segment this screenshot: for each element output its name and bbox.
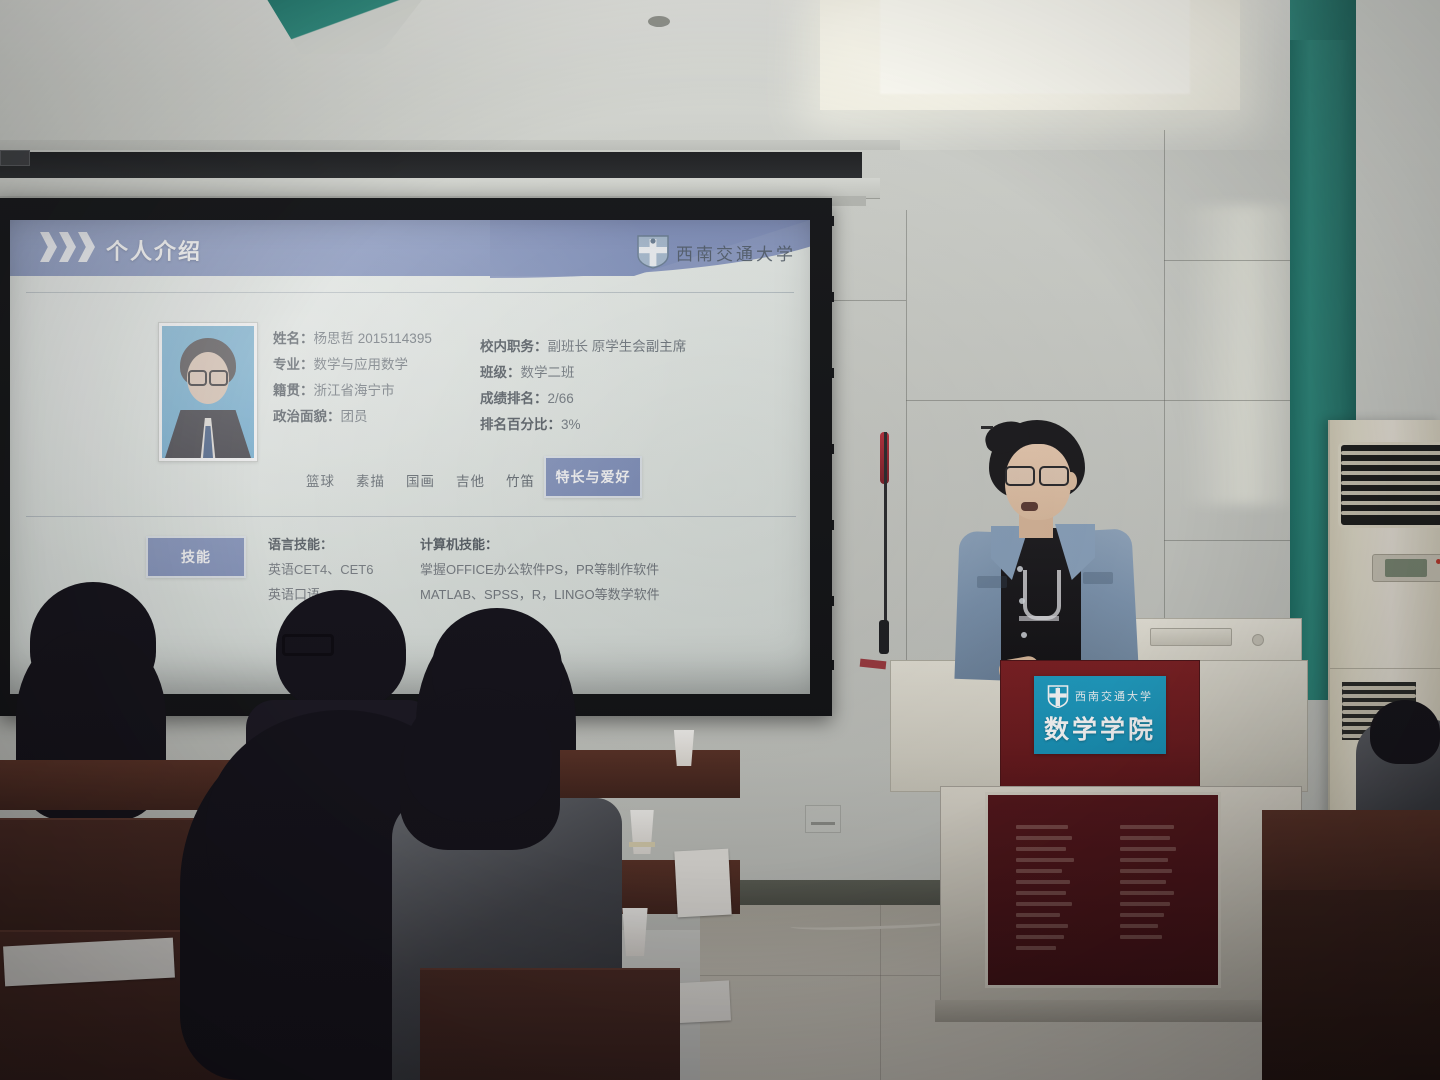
hobby-item: 国画 xyxy=(406,470,435,490)
triple-chevron-icon xyxy=(40,232,95,262)
wall-cable-end xyxy=(879,620,889,654)
wall-light-glow xyxy=(1180,205,1290,505)
classroom-presentation-photo: 个人介绍 西南交通大学 xyxy=(0,0,1440,1080)
podium-base xyxy=(935,1000,1307,1022)
hobby-item: 竹笛 xyxy=(506,470,535,490)
podium-sign-department: 数学学院 xyxy=(1044,710,1156,746)
glasses-icon xyxy=(282,634,334,656)
hobby-list: 篮球 素描 国画 吉他 竹笛 xyxy=(306,470,535,490)
info-row: 专业：数学与应用数学 xyxy=(273,352,432,378)
info-row: 校内职务：副班长 原学生会副主席 xyxy=(480,334,686,360)
presenter-tshirt-graphic-bar xyxy=(1019,616,1059,621)
hobby-item: 素描 xyxy=(356,470,385,490)
wall-cable xyxy=(884,432,887,632)
info-row: 籍贯：浙江省海宁市 xyxy=(273,378,432,404)
wall-outlet xyxy=(805,805,841,833)
hobby-item: 篮球 xyxy=(306,470,335,490)
ceiling-smoke-detector-icon xyxy=(648,16,670,27)
air-conditioner-vent-top xyxy=(1338,442,1440,528)
header-underline xyxy=(26,292,794,293)
wall-seam xyxy=(906,210,907,730)
screen-housing-shadow xyxy=(0,152,862,178)
id-photo xyxy=(158,322,258,462)
wall-seam xyxy=(906,400,1296,401)
info-row: 班级：数学二班 xyxy=(480,360,686,386)
presenter-pocket-left xyxy=(977,576,1007,588)
language-skills-heading: 语言技能： xyxy=(268,532,373,557)
podium-handle[interactable] xyxy=(1150,628,1232,646)
info-column-right: 校内职务：副班长 原学生会副主席 班级：数学二班 成绩排名：2/66 排名百分比… xyxy=(480,334,686,438)
air-conditioner-power-led-icon xyxy=(1436,559,1440,564)
paper-sheet xyxy=(674,849,731,918)
presenter xyxy=(955,420,1155,680)
glasses-bridge xyxy=(981,426,993,429)
hobbies-badge: 特长与爱好 xyxy=(544,456,642,498)
podium-right-wing xyxy=(1190,660,1308,792)
floor-tile-seam xyxy=(880,905,881,1080)
audience-head-right xyxy=(1370,700,1440,764)
presenter-pocket-right xyxy=(1083,572,1113,584)
paper-cup xyxy=(628,810,656,854)
screen-edge-tabs xyxy=(816,198,834,716)
glasses-icon xyxy=(1005,466,1069,482)
air-conditioner-screen xyxy=(1385,559,1427,577)
info-column-left: 姓名：杨思哲 2015114395 专业：数学与应用数学 籍贯：浙江省海宁市 政… xyxy=(273,326,432,430)
presenter-tshirt-graphic xyxy=(1023,570,1061,620)
podium-lower-panel xyxy=(985,792,1221,988)
info-row: 姓名：杨思哲 2015114395 xyxy=(273,326,432,352)
podium-sign-topline: 西南交通大学 xyxy=(1047,684,1153,708)
slide-title: 个人介绍 xyxy=(106,234,202,266)
podium-knob[interactable] xyxy=(1252,634,1264,646)
air-conditioner-display[interactable] xyxy=(1372,554,1440,582)
computer-skills-heading: 计算机技能： xyxy=(420,532,660,557)
slide-divider xyxy=(26,516,796,517)
slide-university-name: 西南交通大学 xyxy=(676,240,796,265)
paper-cup xyxy=(620,908,650,956)
info-row: 政治面貌：团员 xyxy=(273,404,432,430)
audience xyxy=(0,560,760,1080)
bench xyxy=(420,968,680,1080)
hobby-item: 吉他 xyxy=(456,470,485,490)
pillar-top xyxy=(1290,0,1356,40)
podium-sign: 西南交通大学 数学学院 xyxy=(1034,676,1166,754)
info-row: 成绩排名：2/66 xyxy=(480,386,686,412)
audience-head xyxy=(404,688,552,822)
paper-cup-band xyxy=(629,842,655,847)
podium-sign-university: 西南交通大学 xyxy=(1075,688,1153,704)
podium-panel-text-column xyxy=(1120,825,1178,939)
university-crest-icon xyxy=(1047,684,1069,708)
ceiling-light-inner xyxy=(880,0,1190,94)
info-row: 排名百分比：3% xyxy=(480,412,686,438)
university-crest-icon xyxy=(636,233,670,269)
bench-desk xyxy=(1262,810,1440,900)
air-conditioner-seam xyxy=(1330,668,1440,669)
presenter-mouth xyxy=(1021,502,1038,511)
bench-desk xyxy=(560,750,740,798)
wall-plate xyxy=(0,150,30,166)
bench xyxy=(1262,890,1440,1080)
podium-panel-text-column xyxy=(1016,825,1074,950)
